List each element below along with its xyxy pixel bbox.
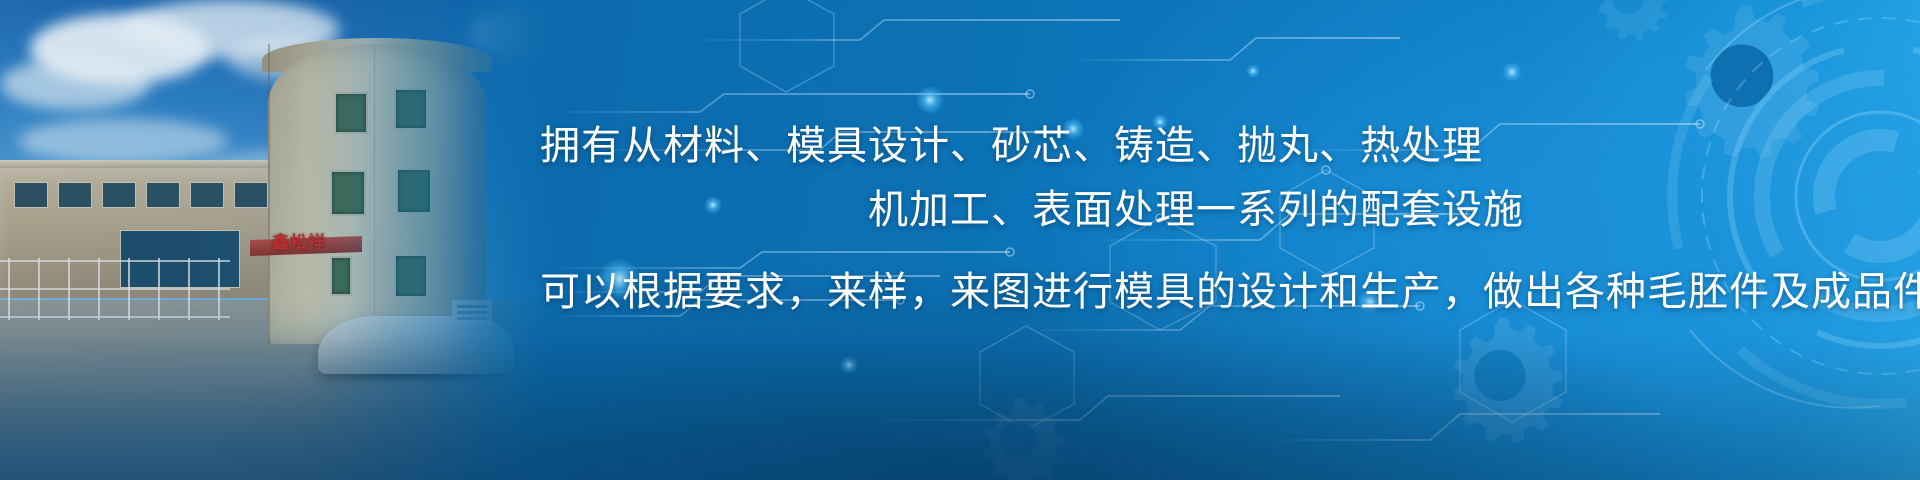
- banner-line-2: 机加工、表面处理一系列的配套设施: [868, 190, 1524, 230]
- banner-line-1: 拥有从材料、模具设计、砂芯、铸造、抛丸、热处理: [540, 126, 1483, 166]
- company-banner: 鑫松祥: [0, 0, 1920, 480]
- banner-line-3: 可以根据要求，来样，来图进行模具的设计和生产，做出各种毛胚件及成品件: [540, 272, 1920, 312]
- banner-copy: 拥有从材料、模具设计、砂芯、铸造、抛丸、热处理 机加工、表面处理一系列的配套设施…: [0, 0, 1920, 480]
